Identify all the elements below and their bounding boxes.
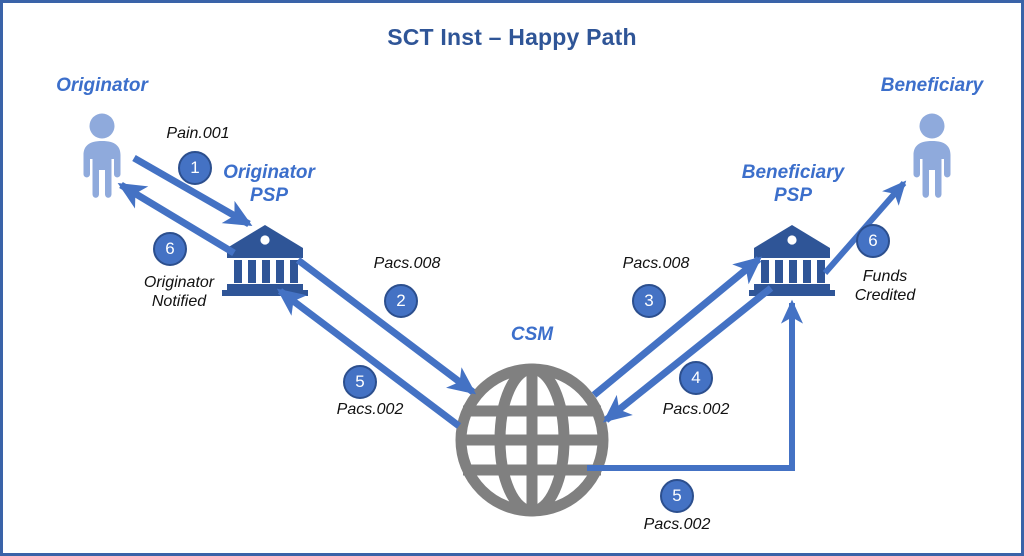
message-label-funds-credited-line2: Credited	[830, 287, 940, 305]
step-circle-5-bottom: 5	[660, 479, 694, 513]
message-label-funds-credited-line1: Funds	[830, 268, 940, 286]
actor-label-originator-psp-line2: PSP	[199, 185, 339, 206]
actor-label-originator: Originator	[32, 75, 172, 96]
message-label-pacs008-right: Pacs.008	[601, 255, 711, 273]
step-circle-6-left: 6	[153, 232, 187, 266]
message-label-pacs002-bottom: Pacs.002	[622, 516, 732, 534]
actor-label-beneficiary-psp-line2: PSP	[721, 185, 865, 206]
person-icon-beneficiary	[914, 114, 951, 198]
message-label-originator-notified-line1: Originator	[117, 274, 241, 292]
step-circle-4: 4	[679, 361, 713, 395]
diagram-canvas: SCT Inst – Happy Path	[0, 0, 1024, 556]
message-label-pacs008-left: Pacs.008	[352, 255, 462, 273]
actor-label-beneficiary-psp-line1: Beneficiary	[721, 162, 865, 183]
step-circle-5-left: 5	[343, 365, 377, 399]
globe-icon-csm	[461, 369, 603, 511]
actor-label-originator-psp-line1: Originator	[199, 162, 339, 183]
step-circle-3: 3	[632, 284, 666, 318]
message-label-originator-notified-line2: Notified	[117, 293, 241, 311]
message-label-pacs002-left: Pacs.002	[315, 401, 425, 419]
person-icon-originator	[84, 114, 121, 198]
bank-icon-beneficiary-psp	[749, 225, 835, 296]
actor-label-csm: CSM	[482, 324, 582, 345]
arrow-step-3	[594, 259, 759, 395]
message-label-pacs002-right: Pacs.002	[641, 401, 751, 419]
step-circle-6-right: 6	[856, 224, 890, 258]
actor-label-beneficiary: Beneficiary	[862, 75, 1002, 96]
step-circle-1: 1	[178, 151, 212, 185]
step-circle-2: 2	[384, 284, 418, 318]
message-label-pain001: Pain.001	[143, 125, 253, 143]
